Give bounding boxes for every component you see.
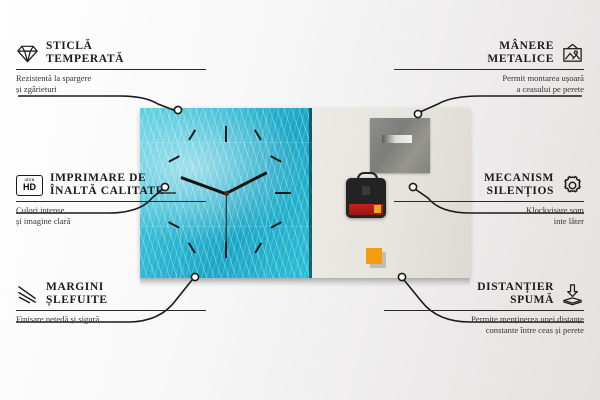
feature-subtitle-line2: inte låter: [554, 216, 584, 226]
feature-subtitle-line1: Permit montarea ușoară: [502, 73, 584, 83]
foam-spacer-pad: [366, 248, 382, 264]
feature-subtitle-line2: constante între ceas și perete: [486, 325, 584, 335]
callout-polished-edges: MARGINI ȘLEFUITE Finisare netedă și sigu…: [16, 281, 206, 325]
feature-title-line1: MECANISM: [484, 172, 554, 184]
feature-subtitle-line1: Klockvisare som: [526, 205, 584, 215]
diamond-icon: [16, 42, 39, 65]
battery: [349, 204, 383, 215]
divider: [16, 69, 206, 70]
metal-hanger-plate: [370, 118, 430, 173]
feature-title-line1: DISTANȚIER: [477, 281, 554, 293]
callout-tempered-glass: STICLĂ TEMPERATĂ Rezistentă la spargere …: [16, 40, 206, 94]
feature-subtitle-line1: Culori intense: [16, 205, 64, 215]
feature-title-line2: ÎNALTĂ CALITATE: [50, 185, 164, 197]
picture-frame-hanger-icon: [561, 42, 584, 65]
divider: [16, 201, 206, 202]
feature-subtitle-line2: și zgârieturi: [16, 84, 57, 94]
battery-terminal: [374, 205, 381, 213]
divider: [384, 310, 584, 311]
gear-icon: [561, 174, 584, 197]
mechanism-hook: [357, 172, 378, 184]
hour-hand: [225, 171, 268, 195]
feature-title-line1: IMPRIMARE DE: [50, 172, 146, 184]
hour-marker: [254, 129, 262, 140]
feature-title-line2: TEMPERATĂ: [46, 53, 124, 65]
feature-subtitle-line2: și imagine clară: [16, 216, 70, 226]
hour-marker: [225, 126, 227, 142]
infographic-canvas: STICLĂ TEMPERATĂ Rezistentă la spargere …: [0, 0, 600, 400]
feature-title-line2: SILENȚIOS: [487, 185, 554, 197]
clock-center-hub: [224, 191, 229, 196]
feature-subtitle-line1: Finisare netedă și sigură: [16, 314, 99, 324]
second-hand: [225, 194, 226, 246]
feature-title-line2: ȘLEFUITE: [46, 294, 108, 306]
hour-marker: [275, 192, 291, 194]
feature-subtitle-line1: Rezistentă la spargere: [16, 73, 91, 83]
callout-metal-handles: MÂNERE METALICE Permit montarea ușoară a…: [394, 40, 584, 94]
callout-high-quality-print: ultra HD IMPRIMARE DE ÎNALTĂ CALITATE Cu…: [16, 172, 206, 226]
feature-title-line1: MARGINI: [46, 281, 104, 293]
hour-marker: [270, 155, 281, 162]
feature-title-line1: MÂNERE: [499, 40, 554, 52]
feature-title-line2: METALICE: [487, 53, 554, 65]
feature-subtitle-line2: a ceasului pe perete: [516, 84, 584, 94]
hanger-slot: [382, 135, 412, 143]
ultra-hd-badge-icon: ultra HD: [16, 175, 43, 196]
spacer-arrow-icon: [561, 283, 584, 306]
feature-title-line1: STICLĂ: [46, 40, 92, 52]
mechanism-shaft: [362, 186, 370, 195]
hour-marker: [168, 155, 179, 162]
feature-subtitle-line1: Permite menținerea unei distanțe: [471, 314, 584, 324]
hour-marker: [188, 242, 196, 253]
divider: [394, 69, 584, 70]
feature-title-line2: SPUMĂ: [510, 294, 554, 306]
callout-silent-mechanism: MECANISM SILENȚIOS Klockvisare som inte …: [394, 172, 584, 226]
clock-mechanism: [346, 178, 386, 218]
hour-marker: [188, 129, 196, 140]
polished-edges-icon: [16, 283, 39, 306]
divider: [394, 201, 584, 202]
hour-marker: [254, 242, 262, 253]
callout-foam-spacer: DISTANȚIER SPUMĂ Permite menținerea unei…: [384, 281, 584, 335]
hour-marker: [270, 221, 281, 228]
divider: [16, 310, 206, 311]
badge-large-text: HD: [23, 183, 36, 192]
